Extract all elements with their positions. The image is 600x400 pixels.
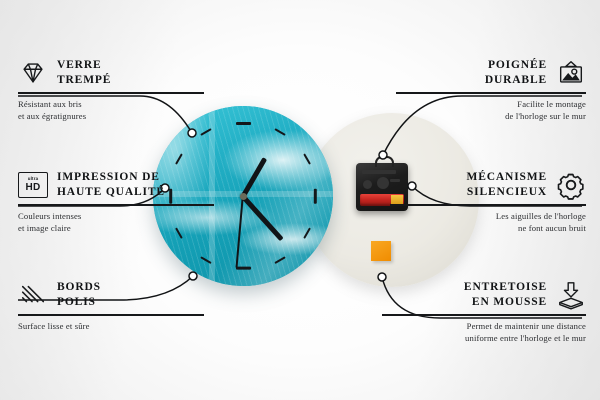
- feature-title: MÉCANISME SILENCIEUX: [467, 170, 548, 200]
- polished-edges-icon: [18, 280, 48, 310]
- mechanism-dial: [377, 177, 389, 189]
- title-divider: [18, 204, 214, 206]
- feature-header: ENTRETOISE EN MOUSSE: [392, 280, 586, 310]
- feature-title: POIGNÉE DURABLE: [485, 58, 547, 88]
- mechanism-dial: [363, 180, 372, 189]
- feature-desc-line: et image claire: [18, 222, 204, 234]
- feature-desc-line: uniforme entre l'horloge et le mur: [392, 332, 586, 344]
- gear-icon: [556, 170, 586, 200]
- title-divider: [390, 204, 586, 206]
- hour-marker: [236, 267, 251, 270]
- feature-title: IMPRESSION DE HAUTE QUALITÉ: [57, 170, 165, 200]
- feature-header: ultra HD IMPRESSION DE HAUTE QUALITÉ: [18, 170, 204, 200]
- feature-title: VERRE TREMPÉ: [57, 58, 111, 88]
- feature-desc-line: Couleurs intenses: [18, 210, 204, 222]
- feature-desc-line: Surface lisse et sûre: [18, 320, 194, 332]
- foam-spacer: [371, 241, 391, 261]
- title-divider: [18, 92, 204, 94]
- feature-desc-line: Résistant aux bris: [18, 98, 194, 110]
- badge-large-text: HD: [25, 183, 40, 193]
- infographic-canvas: VERRE TREMPÉ Résistant aux bris et aux é…: [0, 0, 600, 400]
- feature-high-quality-print: ultra HD IMPRESSION DE HAUTE QUALITÉ Cou…: [18, 170, 204, 235]
- feature-silent-mechanism: MÉCANISME SILENCIEUX Les aiguilles de l'…: [400, 170, 586, 235]
- hour-marker: [236, 122, 251, 125]
- ultra-hd-badge-icon: ultra HD: [18, 172, 48, 198]
- foam-spacer-icon: [556, 280, 586, 310]
- feature-header: VERRE TREMPÉ: [18, 58, 194, 88]
- feature-header: MÉCANISME SILENCIEUX: [400, 170, 586, 200]
- feature-desc-line: Permet de maintenir une distance: [392, 320, 586, 332]
- feature-durable-handle: POIGNÉE DURABLE Facilite le montage de l…: [406, 58, 586, 123]
- hanging-hook-icon: [375, 156, 394, 167]
- feature-desc-line: ne font aucun bruit: [400, 222, 586, 234]
- feature-polished-edges: BORDS POLIS Surface lisse et sûre: [18, 280, 194, 332]
- feature-foam-spacer: ENTRETOISE EN MOUSSE Permet de maintenir…: [392, 280, 586, 345]
- feature-title: ENTRETOISE EN MOUSSE: [464, 280, 547, 310]
- feature-tempered-glass: VERRE TREMPÉ Résistant aux bris et aux é…: [18, 58, 194, 123]
- title-divider: [18, 314, 204, 316]
- feature-header: BORDS POLIS: [18, 280, 194, 310]
- feature-header: POIGNÉE DURABLE: [406, 58, 586, 88]
- hands-center-cap: [240, 193, 247, 200]
- title-divider: [382, 314, 586, 316]
- mechanism-detail: [362, 170, 396, 174]
- mechanism-detail: [390, 179, 400, 182]
- feature-desc-line: Facilite le montage: [406, 98, 586, 110]
- hanging-frame-icon: [556, 58, 586, 88]
- title-divider: [396, 92, 586, 94]
- feature-desc-line: Les aiguilles de l'horloge: [400, 210, 586, 222]
- feature-title: BORDS POLIS: [57, 280, 101, 310]
- feature-desc-line: de l'horloge sur le mur: [406, 110, 586, 122]
- feature-desc-line: et aux égratignures: [18, 110, 194, 122]
- hour-marker: [314, 188, 317, 203]
- diamond-icon: [18, 58, 48, 88]
